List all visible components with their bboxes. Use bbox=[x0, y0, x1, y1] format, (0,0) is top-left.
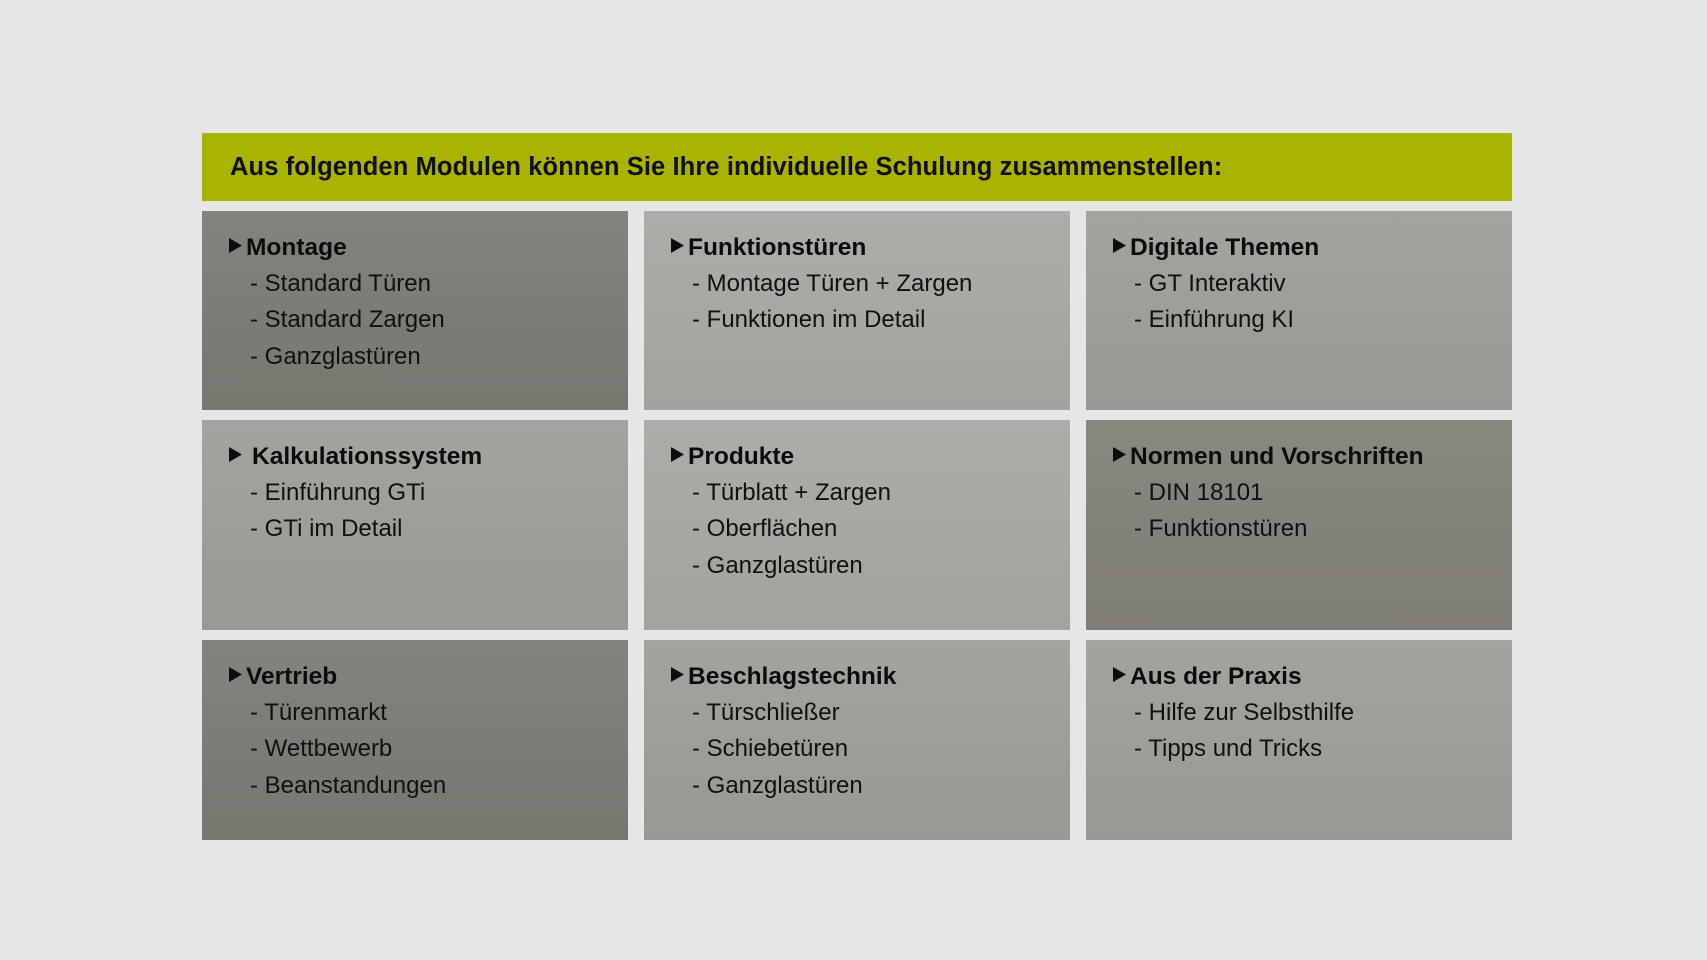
module-list-item[interactable]: - Einführung KI bbox=[1134, 302, 1494, 338]
module-list-item[interactable]: - Ganzglastüren bbox=[692, 548, 1052, 584]
module-list-item[interactable]: - Ganzglastüren bbox=[250, 339, 610, 375]
module-card-heading: Aus der Praxis bbox=[1112, 664, 1494, 690]
module-list-item[interactable]: - Funktionen im Detail bbox=[692, 302, 1052, 338]
module-card-title: Digitale Themen bbox=[1130, 235, 1319, 261]
module-list-item[interactable]: - Ganzglastüren bbox=[692, 768, 1052, 804]
module-card[interactable]: Funktionstüren- Montage Türen + Zargen- … bbox=[644, 211, 1070, 410]
module-list-item[interactable]: - Montage Türen + Zargen bbox=[692, 266, 1052, 302]
module-list-item[interactable]: - Oberflächen bbox=[692, 511, 1052, 547]
training-modules-slide: Aus folgenden Modulen können Sie Ihre in… bbox=[202, 133, 1512, 840]
module-card[interactable]: Kalkulationssystem- Einführung GTi- GTi … bbox=[202, 420, 628, 630]
module-card-heading: Montage bbox=[228, 235, 610, 261]
header-banner: Aus folgenden Modulen können Sie Ihre in… bbox=[202, 133, 1512, 201]
triangle-right-icon bbox=[228, 237, 243, 254]
module-card[interactable]: Montage- Standard Türen- Standard Zargen… bbox=[202, 211, 628, 410]
module-item-list: - Einführung GTi- GTi im Detail bbox=[228, 475, 610, 548]
module-item-list: - GT Interaktiv- Einführung KI bbox=[1112, 266, 1494, 339]
module-card-title: Produkte bbox=[688, 444, 794, 470]
triangle-right-icon bbox=[1112, 666, 1127, 683]
module-card-title: Beschlagstechnik bbox=[688, 664, 896, 690]
module-card[interactable]: Beschlagstechnik- Türschließer- Schiebet… bbox=[644, 640, 1070, 840]
module-card-heading: Digitale Themen bbox=[1112, 235, 1494, 261]
module-item-list: - Türenmarkt- Wettbewerb- Beanstandungen bbox=[228, 695, 610, 804]
module-list-item[interactable]: - Türblatt + Zargen bbox=[692, 475, 1052, 511]
module-list-item[interactable]: - Hilfe zur Selbsthilfe bbox=[1134, 695, 1494, 731]
module-item-list: - Standard Türen- Standard Zargen- Ganzg… bbox=[228, 266, 610, 375]
module-item-list: - DIN 18101- Funktionstüren bbox=[1112, 475, 1494, 548]
module-card[interactable]: Aus der Praxis- Hilfe zur Selbsthilfe- T… bbox=[1086, 640, 1512, 840]
triangle-right-icon bbox=[670, 666, 685, 683]
module-card-title: Vertrieb bbox=[246, 664, 337, 690]
module-item-list: - Türblatt + Zargen- Oberflächen- Ganzgl… bbox=[670, 475, 1052, 584]
module-card-title: Funktionstüren bbox=[688, 235, 866, 261]
module-card-title: Normen und Vorschriften bbox=[1130, 444, 1424, 470]
module-list-item[interactable]: - Türschließer bbox=[692, 695, 1052, 731]
module-list-item[interactable]: - Einführung GTi bbox=[250, 475, 610, 511]
triangle-right-icon bbox=[228, 446, 243, 463]
module-card-heading: Vertrieb bbox=[228, 664, 610, 690]
module-grid: Montage- Standard Türen- Standard Zargen… bbox=[202, 211, 1512, 840]
module-item-list: - Montage Türen + Zargen- Funktionen im … bbox=[670, 266, 1052, 339]
module-list-item[interactable]: - Wettbewerb bbox=[250, 731, 610, 767]
module-list-item[interactable]: - GT Interaktiv bbox=[1134, 266, 1494, 302]
module-card-heading: Normen und Vorschriften bbox=[1112, 444, 1494, 470]
triangle-right-icon bbox=[1112, 446, 1127, 463]
module-list-item[interactable]: - Funktionstüren bbox=[1134, 511, 1494, 547]
module-list-item[interactable]: - Türenmarkt bbox=[250, 695, 610, 731]
module-list-item[interactable]: - Standard Zargen bbox=[250, 302, 610, 338]
triangle-right-icon bbox=[670, 446, 685, 463]
module-card[interactable]: Normen und Vorschriften- DIN 18101- Funk… bbox=[1086, 420, 1512, 630]
module-card-heading: Produkte bbox=[670, 444, 1052, 470]
module-card-title: Aus der Praxis bbox=[1130, 664, 1302, 690]
module-card[interactable]: Produkte- Türblatt + Zargen- Oberflächen… bbox=[644, 420, 1070, 630]
module-card[interactable]: Digitale Themen- GT Interaktiv- Einführu… bbox=[1086, 211, 1512, 410]
module-item-list: - Türschließer- Schiebetüren- Ganzglastü… bbox=[670, 695, 1052, 804]
page-title: Aus folgenden Modulen können Sie Ihre in… bbox=[230, 153, 1222, 182]
module-list-item[interactable]: - Standard Türen bbox=[250, 266, 610, 302]
module-card-title: Montage bbox=[246, 235, 347, 261]
module-list-item[interactable]: - Tipps und Tricks bbox=[1134, 731, 1494, 767]
triangle-right-icon bbox=[1112, 237, 1127, 254]
module-card-heading: Kalkulationssystem bbox=[228, 444, 610, 470]
module-list-item[interactable]: - DIN 18101 bbox=[1134, 475, 1494, 511]
module-list-item[interactable]: - Schiebetüren bbox=[692, 731, 1052, 767]
module-list-item[interactable]: - GTi im Detail bbox=[250, 511, 610, 547]
module-card-title: Kalkulationssystem bbox=[252, 444, 482, 470]
module-card-heading: Beschlagstechnik bbox=[670, 664, 1052, 690]
module-list-item[interactable]: - Beanstandungen bbox=[250, 768, 610, 804]
module-card-heading: Funktionstüren bbox=[670, 235, 1052, 261]
triangle-right-icon bbox=[670, 237, 685, 254]
module-item-list: - Hilfe zur Selbsthilfe- Tipps und Trick… bbox=[1112, 695, 1494, 768]
triangle-right-icon bbox=[228, 666, 243, 683]
module-card[interactable]: Vertrieb- Türenmarkt- Wettbewerb- Beanst… bbox=[202, 640, 628, 840]
